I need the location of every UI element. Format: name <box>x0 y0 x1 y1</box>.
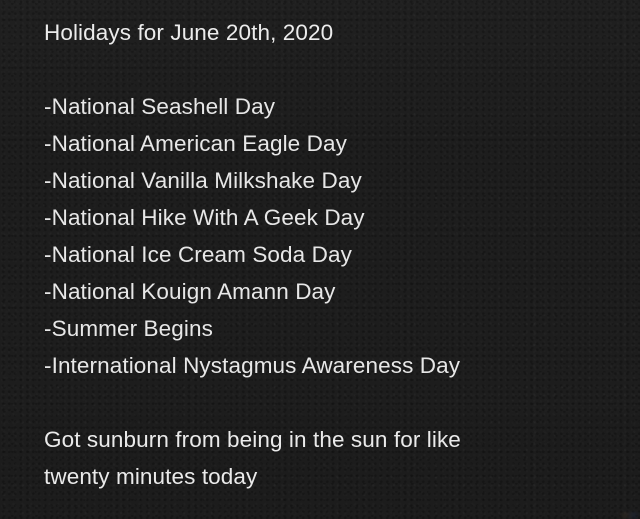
spacer-after-list <box>44 384 620 421</box>
list-item: -National Ice Cream Soda Day <box>44 236 620 273</box>
compression-artifact <box>618 512 640 519</box>
list-item: -Summer Begins <box>44 310 620 347</box>
closing-line: Got sunburn from being in the sun for li… <box>44 421 620 458</box>
note-body: Holidays for June 20th, 2020 -National S… <box>0 0 640 495</box>
list-item: -National Seashell Day <box>44 88 620 125</box>
list-item: -National Vanilla Milkshake Day <box>44 162 620 199</box>
holiday-list: -National Seashell Day -National America… <box>44 88 620 384</box>
note-screen: Holidays for June 20th, 2020 -National S… <box>0 0 640 519</box>
note-title: Holidays for June 20th, 2020 <box>44 14 620 51</box>
list-item: -National Hike With A Geek Day <box>44 199 620 236</box>
list-item: -National American Eagle Day <box>44 125 620 162</box>
spacer-after-title <box>44 51 620 88</box>
closing-paragraph: Got sunburn from being in the sun for li… <box>44 421 620 495</box>
closing-line: twenty minutes today <box>44 458 620 495</box>
list-item: -International Nystagmus Awareness Day <box>44 347 620 384</box>
list-item: -National Kouign Amann Day <box>44 273 620 310</box>
